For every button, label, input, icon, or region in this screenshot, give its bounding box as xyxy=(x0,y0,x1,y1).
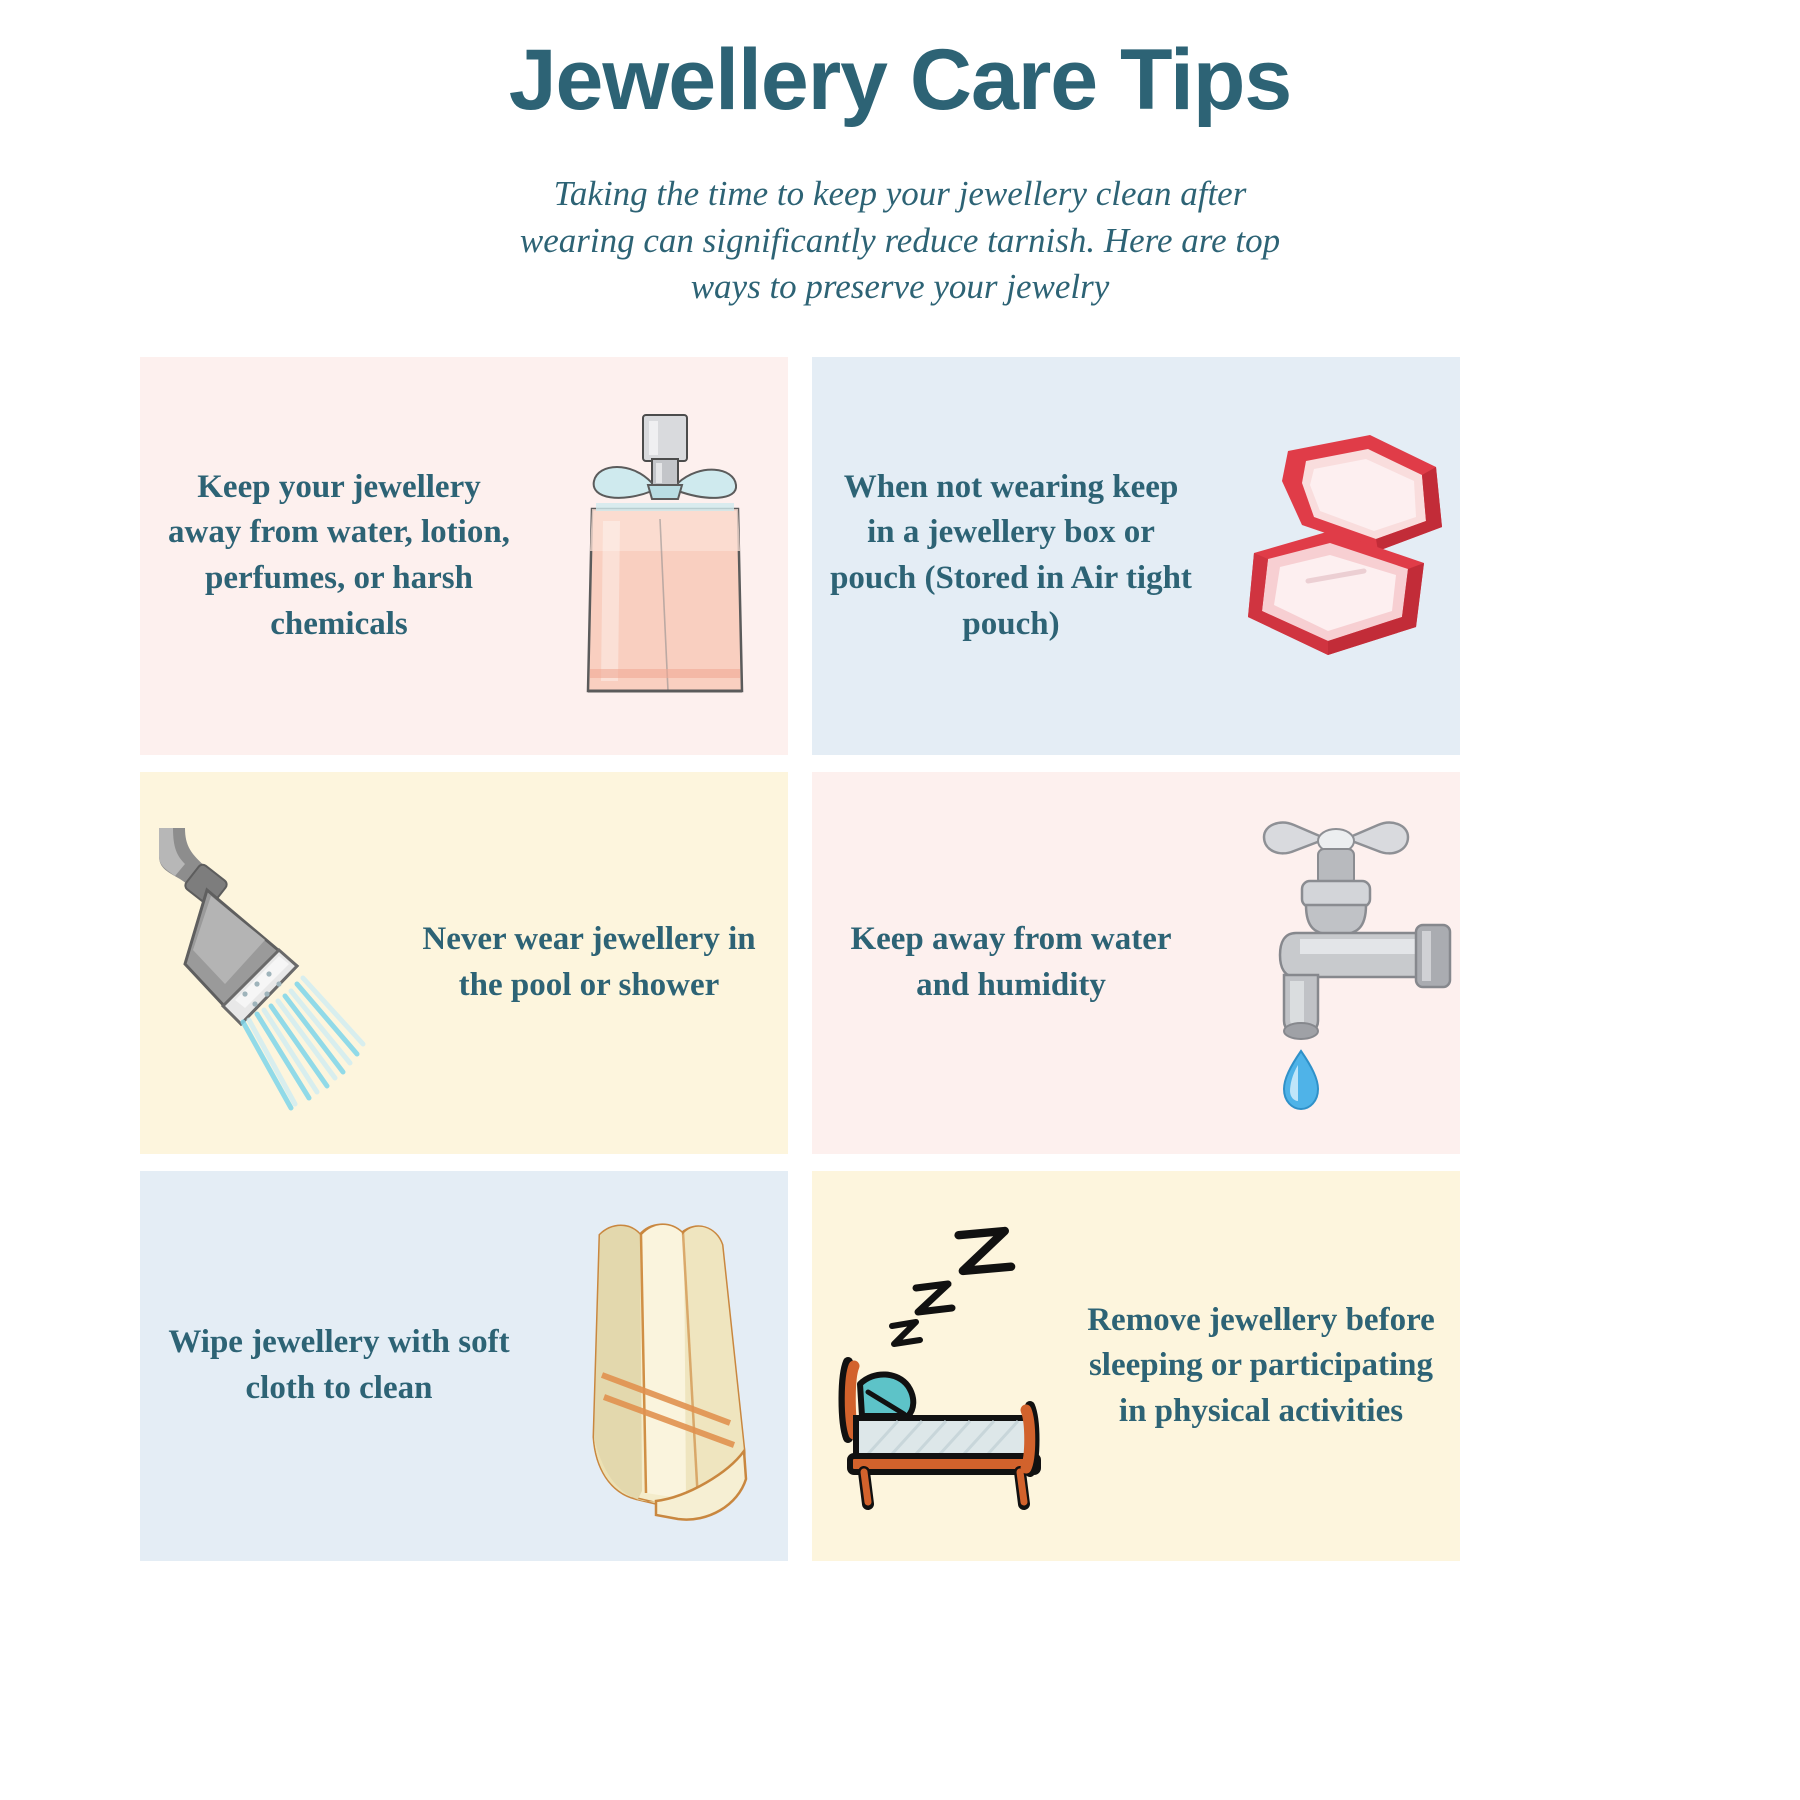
page-title: Jewellery Care Tips xyxy=(0,30,1800,131)
tip-card-text: Wipe jewellery with soft cloth to clean xyxy=(140,1320,538,1411)
page-subtitle: Taking the time to keep your jewellery c… xyxy=(500,171,1300,310)
tip-card-text: Keep your jewellery away from water, lot… xyxy=(140,465,538,647)
polishing-cloth-icon xyxy=(538,1201,788,1531)
jewellery-box-icon xyxy=(1210,391,1460,721)
tip-card-remove-before-sleep[interactable]: Remove jewellery before sleeping or part… xyxy=(812,1171,1460,1561)
faucet-icon xyxy=(1210,798,1460,1128)
header: Jewellery Care Tips Taking the time to k… xyxy=(0,0,1800,310)
tips-grid: Keep your jewellery away from water, lot… xyxy=(140,357,1660,1561)
infographic-page: Jewellery Care Tips Taking the time to k… xyxy=(0,0,1800,1800)
tip-card-text: Never wear jewellery in the pool or show… xyxy=(390,917,788,1008)
perfume-bottle-icon xyxy=(538,391,788,721)
tip-card-store-in-box[interactable]: When not wearing keep in a jewellery box… xyxy=(812,357,1460,755)
tip-card-no-pool-shower[interactable]: Never wear jewellery in the pool or show… xyxy=(140,772,788,1154)
tip-card-text: Remove jewellery before sleeping or part… xyxy=(1062,1298,1460,1435)
shower-head-icon xyxy=(140,798,390,1128)
tip-card-avoid-chemicals[interactable]: Keep your jewellery away from water, lot… xyxy=(140,357,788,755)
bed-sleep-icon xyxy=(812,1201,1062,1531)
tip-card-avoid-humidity[interactable]: Keep away from water and humidity xyxy=(812,772,1460,1154)
tip-card-text: When not wearing keep in a jewellery box… xyxy=(812,465,1210,647)
tip-card-text: Keep away from water and humidity xyxy=(812,917,1210,1008)
tip-card-wipe-with-cloth[interactable]: Wipe jewellery with soft cloth to clean xyxy=(140,1171,788,1561)
